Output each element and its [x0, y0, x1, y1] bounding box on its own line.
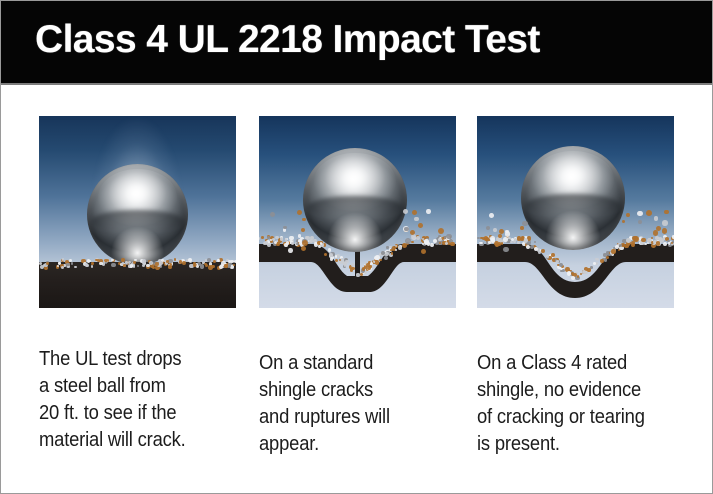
granule	[159, 261, 163, 265]
granule	[200, 264, 205, 269]
granule	[656, 241, 661, 246]
granule	[489, 213, 494, 218]
caption-3: On a Class 4 rated shingle, no evidence …	[477, 350, 661, 458]
granule	[320, 242, 322, 244]
caption-1: The UL test drops a steel ball from 20 f…	[39, 346, 223, 454]
caption-line: shingle cracks	[259, 377, 443, 404]
granule	[426, 209, 431, 214]
granule	[61, 266, 64, 269]
granule	[626, 213, 630, 217]
granule	[360, 273, 363, 276]
granule	[381, 251, 385, 255]
granule	[213, 260, 216, 263]
granule	[627, 243, 630, 246]
granule	[438, 228, 444, 234]
granule	[133, 261, 136, 264]
granule	[391, 252, 394, 255]
granule	[121, 258, 125, 262]
granule	[637, 211, 643, 217]
granule	[288, 248, 293, 253]
panels-row: The UL test drops a steel ball from 20 f…	[1, 85, 713, 494]
header-bar: Class 4 UL 2218 Impact Test	[1, 1, 713, 85]
granule	[446, 234, 451, 239]
granule	[517, 241, 520, 244]
figure-steel-ball-falling	[39, 116, 236, 308]
granule	[62, 258, 64, 260]
granule	[99, 262, 102, 265]
granule	[296, 243, 299, 246]
granule	[155, 262, 159, 266]
granule	[523, 238, 528, 243]
figure-shingle-cracked	[259, 116, 456, 308]
granule	[302, 218, 305, 221]
granule	[362, 267, 365, 270]
granule	[421, 249, 426, 254]
granule	[356, 273, 359, 276]
granule	[74, 266, 77, 269]
granule	[587, 268, 591, 272]
granule	[664, 210, 669, 215]
caption-line: The UL test drops	[39, 346, 223, 373]
caption-line: and ruptures will	[259, 404, 443, 431]
granule	[142, 264, 145, 267]
granule	[297, 210, 302, 215]
granule	[622, 220, 625, 223]
granule	[484, 236, 488, 240]
caption-line: appear.	[259, 431, 443, 458]
granule	[498, 234, 502, 238]
granule	[71, 262, 73, 264]
granule	[582, 270, 586, 274]
granule	[375, 255, 380, 260]
figure-shingle-dented	[477, 116, 674, 308]
caption-line: 20 ft. to see if the	[39, 400, 223, 427]
granule	[418, 223, 423, 228]
granule	[233, 264, 235, 266]
granule	[477, 237, 479, 239]
granule	[398, 246, 402, 250]
caption-line: On a standard	[259, 350, 443, 377]
granule	[330, 257, 333, 260]
granule	[280, 237, 283, 240]
granule	[412, 210, 417, 215]
granule	[438, 238, 441, 241]
granule	[133, 265, 136, 268]
granule	[234, 260, 236, 263]
granule	[663, 242, 667, 246]
granule	[328, 248, 331, 251]
granule	[503, 237, 508, 242]
granule	[344, 264, 347, 267]
granule	[168, 265, 171, 268]
granule	[87, 259, 91, 263]
steel-ball-icon	[303, 148, 407, 252]
shingle-slab	[39, 262, 236, 308]
granule	[196, 265, 199, 268]
granule	[386, 246, 388, 248]
caption-line: of cracking or tearing	[477, 404, 661, 431]
granule	[345, 260, 348, 263]
granule	[654, 216, 659, 221]
granule	[653, 230, 658, 235]
granule	[193, 262, 196, 265]
granule	[261, 236, 264, 239]
steel-ball-icon	[87, 164, 188, 265]
granule	[571, 276, 575, 280]
granule	[149, 261, 153, 265]
granule	[541, 249, 545, 253]
granule	[208, 265, 212, 269]
granule	[309, 239, 313, 243]
granule	[424, 239, 428, 243]
granule	[556, 260, 559, 263]
caption-line: material will crack.	[39, 427, 223, 454]
granule	[560, 270, 562, 272]
granule	[546, 255, 548, 257]
caption-2: On a standard shingle cracks and rupture…	[259, 350, 443, 458]
granule	[370, 262, 373, 265]
granule	[493, 228, 497, 232]
granule	[632, 236, 638, 242]
granule	[611, 249, 615, 253]
granule	[568, 272, 571, 275]
granule	[111, 263, 115, 267]
granule	[514, 238, 517, 241]
granule	[498, 242, 501, 245]
granule	[352, 267, 355, 270]
granule	[85, 263, 88, 266]
granule	[411, 241, 414, 244]
granule	[104, 259, 107, 262]
caption-line: is present.	[477, 431, 661, 458]
granule	[137, 265, 139, 267]
granule-strip	[39, 258, 236, 267]
granule	[505, 231, 511, 237]
granule	[522, 221, 527, 226]
granule	[450, 242, 455, 247]
granule	[520, 226, 524, 230]
granule	[490, 236, 495, 241]
panel-2: On a standard shingle cracks and rupture…	[259, 116, 456, 308]
granule	[152, 266, 155, 269]
panel-1: The UL test drops a steel ball from 20 f…	[39, 116, 236, 308]
granule	[264, 241, 268, 245]
impact-test-infographic: Class 4 UL 2218 Impact Test The UL test …	[0, 0, 713, 494]
granule	[301, 228, 305, 232]
granule	[270, 212, 275, 217]
panel-3: On a Class 4 rated shingle, no evidence …	[477, 116, 674, 308]
page-title: Class 4 UL 2218 Impact Test	[35, 15, 540, 65]
granule	[230, 260, 233, 263]
granule	[285, 238, 287, 240]
granule	[672, 235, 674, 238]
granule	[405, 238, 411, 244]
caption-line: On a Class 4 rated	[477, 350, 661, 377]
granule	[46, 262, 49, 265]
granule	[123, 264, 126, 267]
granule	[224, 264, 227, 267]
granule	[662, 220, 667, 225]
caption-line: a steel ball from	[39, 373, 223, 400]
granule	[593, 262, 596, 265]
granule	[284, 243, 288, 247]
granule	[577, 275, 580, 278]
caption-line: shingle, no evidence	[477, 377, 661, 404]
granule	[91, 265, 94, 268]
granule	[166, 260, 169, 263]
steel-ball-icon	[521, 146, 625, 250]
